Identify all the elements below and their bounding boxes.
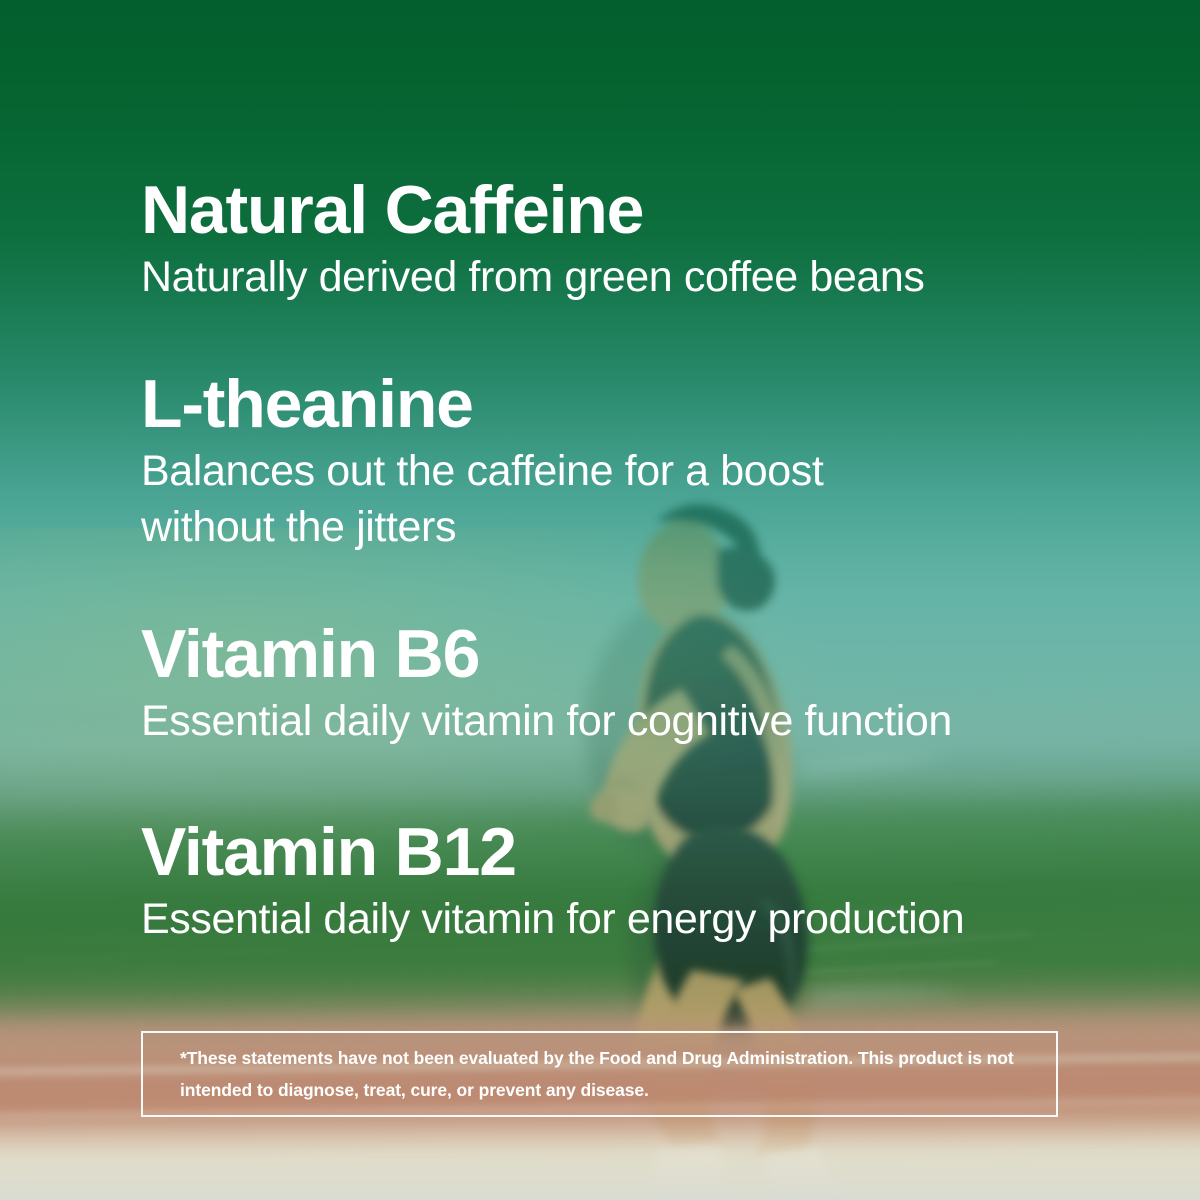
content-layer: Natural Caffeine Naturally derived from … <box>0 0 1200 1200</box>
ingredient-description: Naturally derived from green coffee bean… <box>141 250 925 306</box>
ingredient-benefits-card: Natural Caffeine Naturally derived from … <box>0 0 1200 1200</box>
ingredient-title: Natural Caffeine <box>141 176 925 244</box>
ingredient-title: Vitamin B12 <box>141 818 964 886</box>
fda-disclaimer-box: *These statements have not been evaluate… <box>141 1031 1058 1117</box>
ingredient-description: Essential daily vitamin for energy produ… <box>141 892 964 948</box>
ingredient-description: Balances out the caffeine for a boost wi… <box>141 444 931 556</box>
ingredient-block-natural-caffeine: Natural Caffeine Naturally derived from … <box>141 176 925 306</box>
ingredient-description: Essential daily vitamin for cognitive fu… <box>141 694 952 750</box>
ingredient-block-l-theanine: L-theanine Balances out the caffeine for… <box>141 370 931 556</box>
ingredient-block-vitamin-b12: Vitamin B12 Essential daily vitamin for … <box>141 818 964 948</box>
ingredient-title: Vitamin B6 <box>141 620 952 688</box>
ingredient-title: L-theanine <box>141 370 931 438</box>
fda-disclaimer-text: *These statements have not been evaluate… <box>143 1042 1056 1107</box>
ingredient-block-vitamin-b6: Vitamin B6 Essential daily vitamin for c… <box>141 620 952 750</box>
